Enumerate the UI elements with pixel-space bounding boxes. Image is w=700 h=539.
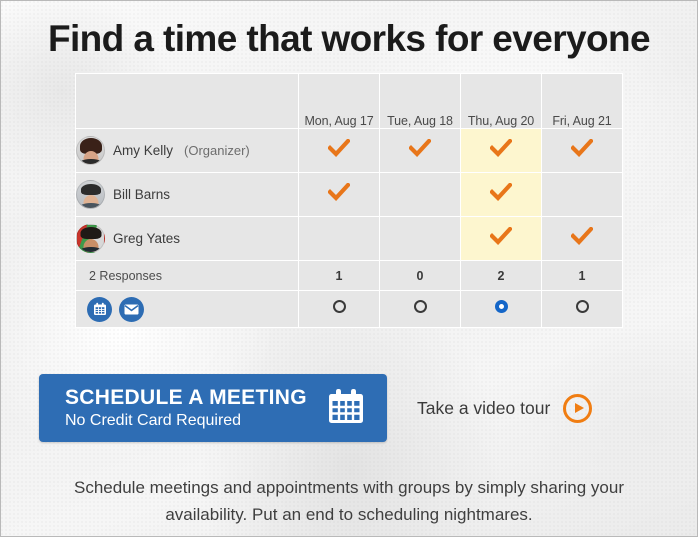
radio-icon[interactable] xyxy=(333,300,346,313)
day-header-fri[interactable]: Fri, Aug 21 xyxy=(542,74,622,128)
participant-cell-greg: Greg Yates xyxy=(76,217,298,260)
participant-name: Greg Yates xyxy=(113,231,180,246)
avatar xyxy=(76,224,105,253)
participant-name: Bill Barns xyxy=(113,187,170,202)
day-header-tue[interactable]: Tue, Aug 18 xyxy=(380,74,460,128)
take-a-video-tour-link[interactable]: Take a video tour xyxy=(417,394,592,423)
select-day-fri[interactable] xyxy=(542,291,622,327)
cta-subtitle: No Credit Card Required xyxy=(65,410,307,431)
response-count-fri: 1 xyxy=(542,261,622,290)
availability-cell-amy-mon[interactable] xyxy=(299,129,379,172)
footer-line-2: availability. Put an end to scheduling n… xyxy=(51,501,647,528)
footer-description: Schedule meetings and appointments with … xyxy=(1,474,697,528)
table-row: Greg Yates xyxy=(76,217,622,260)
check-icon xyxy=(409,139,431,157)
avatar xyxy=(76,136,105,165)
radio-icon-selected[interactable] xyxy=(495,300,508,313)
radio-icon[interactable] xyxy=(576,300,589,313)
table-body: Amy Kelly (Organizer) xyxy=(76,129,622,327)
availability-cell-bill-fri[interactable] xyxy=(542,173,622,216)
envelope-icon[interactable] xyxy=(119,297,144,322)
select-day-thu[interactable] xyxy=(461,291,541,327)
availability-cell-greg-mon[interactable] xyxy=(299,217,379,260)
page-root: Find a time that works for everyone Mon,… xyxy=(0,0,698,537)
select-day-mon[interactable] xyxy=(299,291,379,327)
check-icon xyxy=(328,139,350,157)
video-tour-label: Take a video tour xyxy=(417,398,550,419)
participant-role: (Organizer) xyxy=(184,143,250,158)
table-row: Amy Kelly (Organizer) xyxy=(76,129,622,172)
response-count-tue: 0 xyxy=(380,261,460,290)
responses-label: 2 Responses xyxy=(76,261,298,290)
page-title: Find a time that works for everyone xyxy=(1,1,697,61)
availability-cell-bill-mon[interactable] xyxy=(299,173,379,216)
actions-row xyxy=(76,291,622,327)
cta-title: SCHEDULE A MEETING xyxy=(65,385,307,410)
footer-line-1: Schedule meetings and appointments with … xyxy=(51,474,647,501)
calendar-icon xyxy=(327,387,365,430)
check-icon xyxy=(490,227,512,245)
participant-cell-bill: Bill Barns xyxy=(76,173,298,216)
table-header: Mon, Aug 17 Tue, Aug 18 Thu, Aug 20 Fri,… xyxy=(76,74,622,128)
table-row: Bill Barns xyxy=(76,173,622,216)
availability-poll: Mon, Aug 17 Tue, Aug 18 Thu, Aug 20 Fri,… xyxy=(75,73,623,328)
cta-row: SCHEDULE A MEETING No Credit Card Requir… xyxy=(1,372,697,444)
response-count-thu: 2 xyxy=(461,261,541,290)
avatar xyxy=(76,180,105,209)
availability-table: Mon, Aug 17 Tue, Aug 18 Thu, Aug 20 Fri,… xyxy=(75,73,623,328)
availability-cell-greg-fri[interactable] xyxy=(542,217,622,260)
availability-cell-greg-tue[interactable] xyxy=(380,217,460,260)
check-icon xyxy=(490,139,512,157)
check-icon xyxy=(328,183,350,201)
availability-cell-bill-thu[interactable] xyxy=(461,173,541,216)
action-icons-cell xyxy=(76,291,298,327)
day-header-mon[interactable]: Mon, Aug 17 xyxy=(299,74,379,128)
schedule-a-meeting-button[interactable]: SCHEDULE A MEETING No Credit Card Requir… xyxy=(39,374,387,442)
check-icon xyxy=(571,227,593,245)
availability-cell-amy-tue[interactable] xyxy=(380,129,460,172)
page-content: Find a time that works for everyone Mon,… xyxy=(1,1,697,536)
responses-row: 2 Responses 1 0 2 1 xyxy=(76,261,622,290)
calendar-icon[interactable] xyxy=(87,297,112,322)
play-circle-icon[interactable] xyxy=(563,394,592,423)
availability-cell-amy-fri[interactable] xyxy=(542,129,622,172)
day-header-thu[interactable]: Thu, Aug 20 xyxy=(461,74,541,128)
availability-cell-amy-thu[interactable] xyxy=(461,129,541,172)
response-count-mon: 1 xyxy=(299,261,379,290)
radio-icon[interactable] xyxy=(414,300,427,313)
check-icon xyxy=(571,139,593,157)
participant-name: Amy Kelly xyxy=(113,143,173,158)
select-day-tue[interactable] xyxy=(380,291,460,327)
table-header-row: Mon, Aug 17 Tue, Aug 18 Thu, Aug 20 Fri,… xyxy=(76,74,622,128)
check-icon xyxy=(490,183,512,201)
name-column-header xyxy=(76,74,298,128)
participant-cell-amy: Amy Kelly (Organizer) xyxy=(76,129,298,172)
availability-cell-greg-thu[interactable] xyxy=(461,217,541,260)
availability-cell-bill-tue[interactable] xyxy=(380,173,460,216)
